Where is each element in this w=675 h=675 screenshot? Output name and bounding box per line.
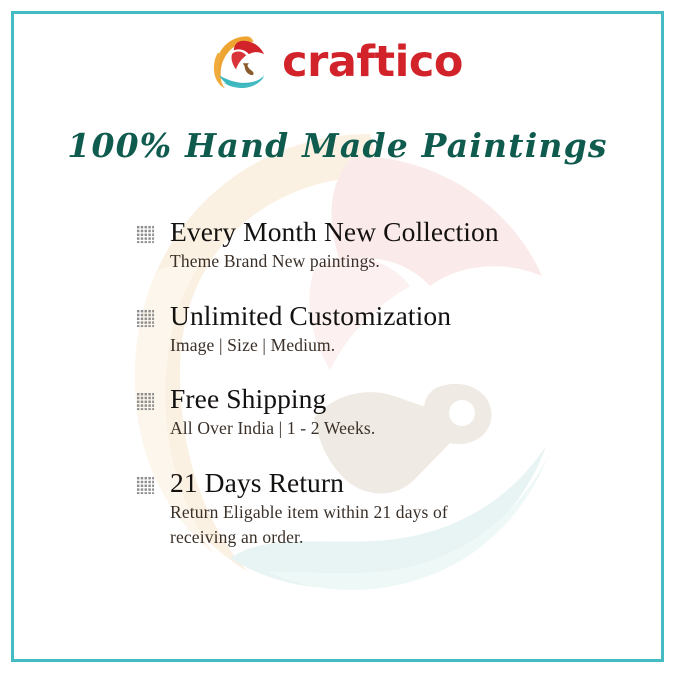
feature-list: Every Month New Collection Theme Brand N… (136, 216, 606, 550)
list-item-subtitle: Theme Brand New paintings. (170, 249, 606, 274)
list-item-title: Free Shipping (170, 383, 606, 415)
craftico-c-umbrella-logo-icon (212, 33, 268, 89)
list-item-title: Every Month New Collection (170, 216, 606, 248)
list-item-text: Free Shipping All Over India | 1 - 2 Wee… (170, 383, 606, 441)
brand-wordmark: craftico (282, 41, 463, 84)
list-item: 21 Days Return Return Eligable item with… (136, 467, 606, 550)
woven-square-bullet-icon (136, 476, 155, 495)
brand-logo-lockup: craftico (0, 33, 675, 89)
woven-square-bullet-icon (136, 392, 155, 411)
list-item-subtitle: Image | Size | Medium. (170, 333, 606, 358)
list-item: Free Shipping All Over India | 1 - 2 Wee… (136, 383, 606, 441)
list-item-subtitle: Return Eligable item within 21 days of r… (170, 500, 500, 550)
promo-card: craftico 100% Hand Made Paintings (0, 0, 675, 675)
list-item-subtitle: All Over India | 1 - 2 Weeks. (170, 416, 606, 441)
list-item: Every Month New Collection Theme Brand N… (136, 216, 606, 274)
woven-square-bullet-icon (136, 309, 155, 328)
tagline-text: 100% Hand Made Paintings (0, 126, 675, 165)
list-item-title: Unlimited Customization (170, 300, 606, 332)
list-item-text: Unlimited Customization Image | Size | M… (170, 300, 606, 358)
list-item-text: 21 Days Return Return Eligable item with… (170, 467, 606, 550)
woven-square-bullet-icon (136, 225, 155, 244)
list-item-text: Every Month New Collection Theme Brand N… (170, 216, 606, 274)
list-item-title: 21 Days Return (170, 467, 606, 499)
list-item: Unlimited Customization Image | Size | M… (136, 300, 606, 358)
